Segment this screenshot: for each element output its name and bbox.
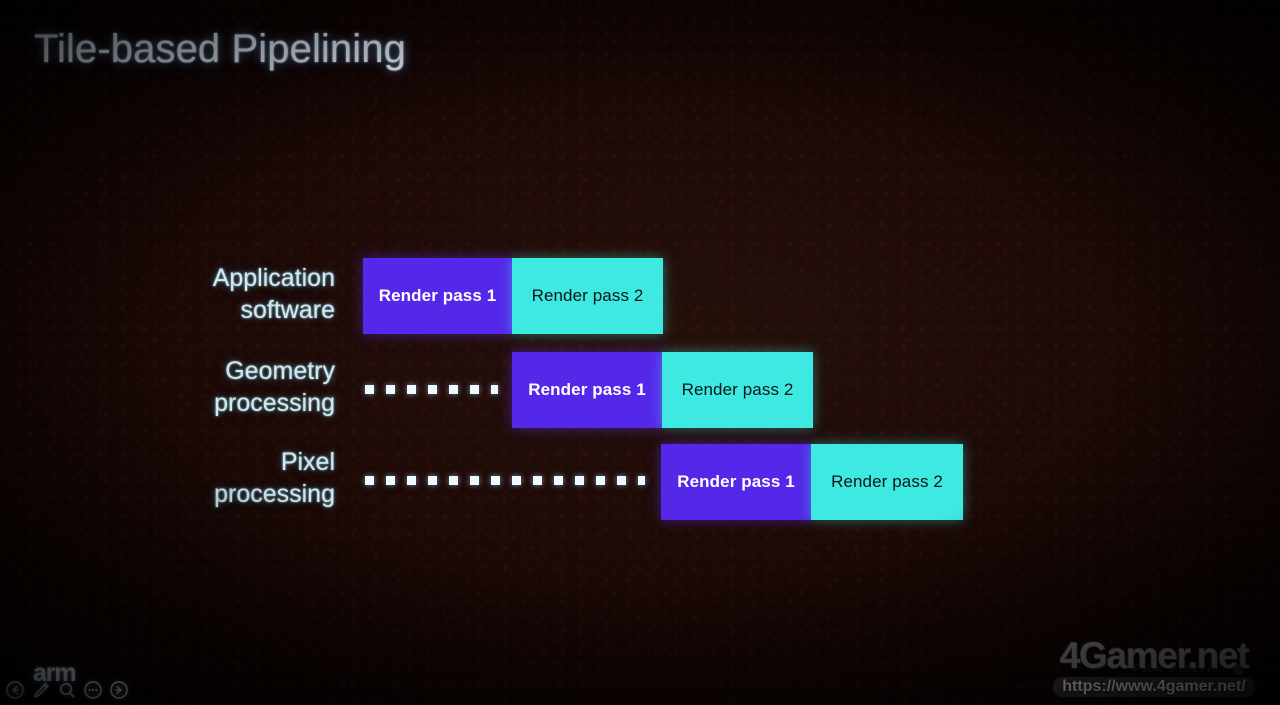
- render-pass-bar: Render pass 1: [363, 258, 512, 334]
- tile-pipelining-diagram: Application softwareRender pass 1Render …: [0, 0, 1280, 705]
- row-label-application-software: Application software: [120, 262, 335, 326]
- more-options-icon[interactable]: [82, 679, 104, 701]
- slide-canvas: Tile-based Pipelining Application softwa…: [0, 0, 1280, 705]
- render-pass-bar: Render pass 2: [662, 352, 813, 428]
- row-label-pixel-processing: Pixel processing: [120, 446, 335, 510]
- previous-slide-icon[interactable]: [4, 679, 26, 701]
- arm-mark-icon: [1233, 664, 1244, 675]
- pen-icon[interactable]: [30, 679, 52, 701]
- render-pass-bar: Render pass 1: [512, 352, 662, 428]
- arm-copyright-text: Public © 2025 Arm: [1133, 663, 1228, 675]
- render-pass-bar: Render pass 2: [811, 444, 963, 520]
- zoom-icon[interactable]: [56, 679, 78, 701]
- presenter-toolbar[interactable]: [4, 679, 130, 701]
- row-label-geometry-processing: Geometry processing: [120, 355, 335, 419]
- next-slide-icon[interactable]: [108, 679, 130, 701]
- render-pass-bar: Render pass 2: [512, 258, 663, 334]
- arm-copyright-line: Public © 2025 Arm: [1133, 663, 1244, 675]
- render-pass-bar: Render pass 1: [661, 444, 811, 520]
- dotted-leader-pixel-processing: [365, 476, 645, 485]
- dotted-leader-geometry-processing: [365, 385, 498, 394]
